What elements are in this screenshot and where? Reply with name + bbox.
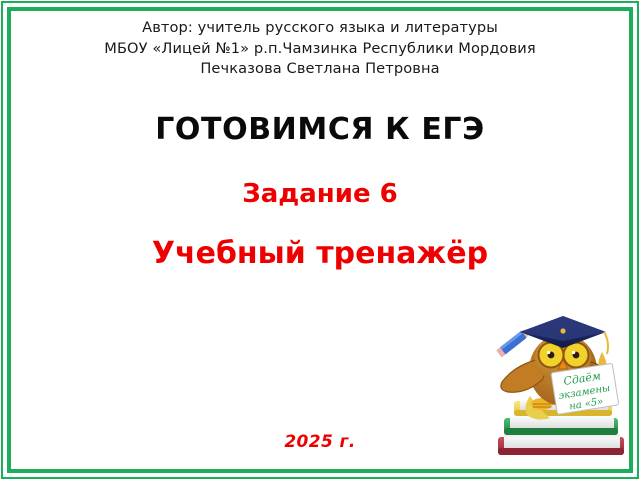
author-line-3: Печказова Светлана Петровна [16,59,624,80]
owl-graduate-illustration: Сдаём экзамены на «5» [492,308,634,472]
page-title: ГОТОВИМСЯ К ЕГЭ [16,112,624,148]
presentation-slide: Автор: учитель русского языка и литерату… [0,0,640,480]
book-middle [504,415,618,435]
book-bottom [498,434,624,455]
author-line-2: МБОУ «Лицей №1» р.п.Чамзинка Республики … [16,39,624,60]
task-number-title: Задание 6 [16,178,624,210]
author-credit-block: Автор: учитель русского языка и литерату… [16,18,624,80]
owl-sign: Сдаём экзамены на «5» [551,363,619,414]
trainer-subtitle: Учебный тренажёр [16,236,624,272]
author-line-1: Автор: учитель русского языка и литерату… [16,18,624,39]
